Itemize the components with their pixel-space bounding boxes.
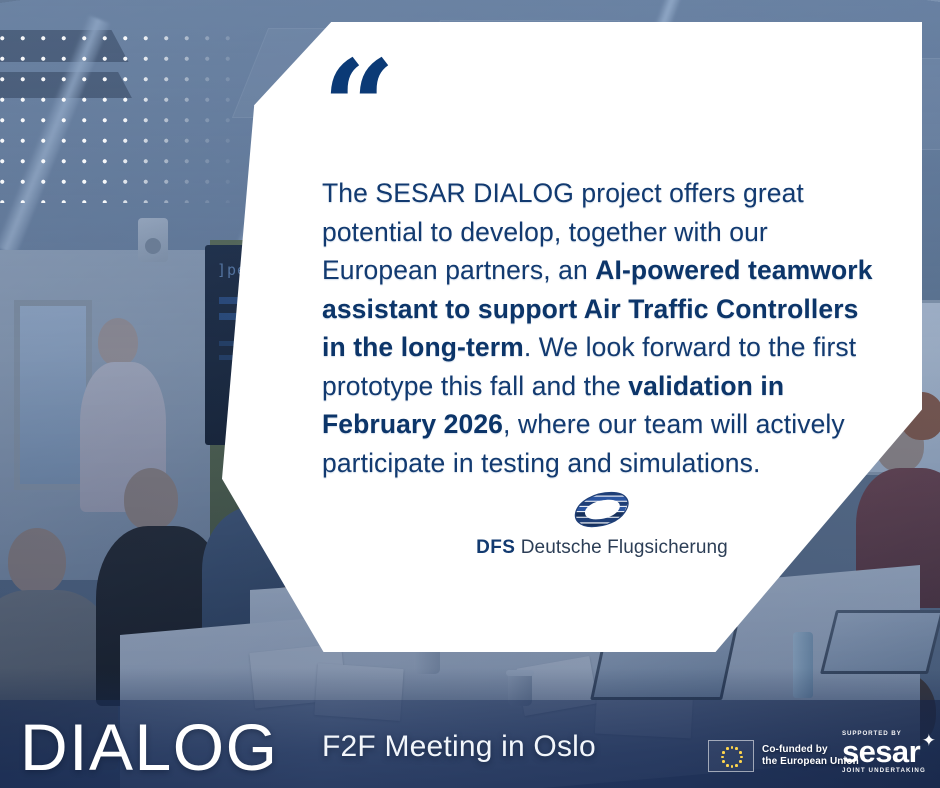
eu-star-icon [726, 747, 729, 750]
eu-star-icon [722, 751, 725, 754]
eu-star-icon [726, 764, 729, 767]
dfs-logo-icon [571, 490, 633, 528]
eu-flag-icon [708, 740, 754, 772]
dfs-abbr: DFS [476, 537, 515, 558]
eu-star-icon [740, 756, 743, 759]
eu-star-icon [739, 751, 742, 754]
event-subtitle: F2F Meeting in Oslo [322, 730, 596, 764]
eu-star-icon [731, 746, 734, 749]
dot-grid-pattern-icon [0, 28, 242, 203]
eu-star-icon [735, 764, 738, 767]
eu-funding-block: Co-funded by the European Union [708, 740, 859, 772]
sesar-logo: SUPPORTED BY sesar JOINT UNDERTAKING ✦ [842, 730, 934, 774]
quote-mark-icon: “ [322, 62, 882, 158]
eu-star-icon [739, 760, 742, 763]
poster-canvas: ]pexip[ [0, 0, 940, 788]
eu-star-icon [735, 747, 738, 750]
sesar-joint-undertaking: JOINT UNDERTAKING [842, 767, 934, 774]
quote-card-content: “ The SESAR DIALOG project offers great … [322, 62, 882, 482]
quote-text: The SESAR DIALOG project offers great po… [322, 174, 882, 482]
sesar-wordmark: sesar [842, 737, 934, 766]
eu-star-icon [731, 765, 734, 768]
eu-star-icon [722, 760, 725, 763]
sesar-star-icon: ✦ [922, 732, 936, 749]
attribution-block: DFS Deutsche Flugsicherung [322, 490, 882, 559]
dfs-full-name: Deutsche Flugsicherung [515, 537, 727, 558]
project-logo-dialog: DIALOG [20, 714, 278, 780]
dfs-logo-text: DFS Deutsche Flugsicherung [476, 537, 728, 559]
sesar-supported-by: SUPPORTED BY [842, 730, 934, 737]
eu-star-icon [721, 756, 724, 759]
